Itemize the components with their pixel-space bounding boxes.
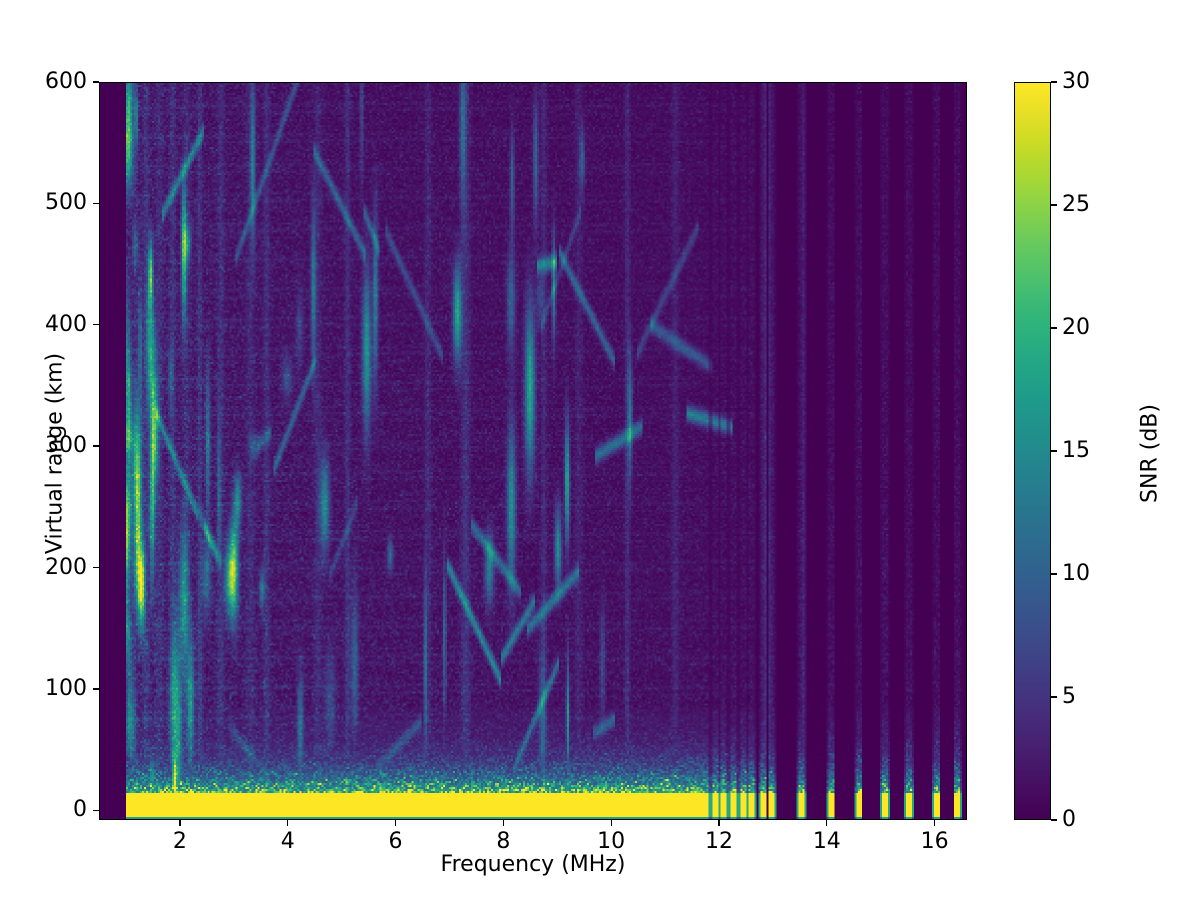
colorbar-tick-mark (1051, 204, 1057, 205)
y-axis-label: Virtual range (km) (43, 304, 68, 604)
y-tick-label: 0 (0, 799, 87, 821)
x-tick-label: 8 (463, 831, 543, 853)
y-tick-mark (93, 445, 99, 446)
x-tick-mark (934, 820, 935, 826)
y-tick-label: 100 (0, 678, 87, 700)
y-tick-mark (93, 203, 99, 204)
colorbar-tick-label: 5 (1062, 686, 1132, 708)
x-tick-label: 12 (679, 831, 759, 853)
colorbar (1014, 82, 1051, 820)
colorbar-tick-mark (1051, 81, 1057, 82)
ionogram-plot-area (99, 82, 967, 820)
colorbar-tick-label: 25 (1062, 194, 1132, 216)
colorbar-gradient (1015, 83, 1050, 819)
x-tick-mark (179, 820, 180, 826)
x-axis-label: Frequency (MHz) (99, 852, 967, 877)
x-tick-label: 16 (895, 831, 975, 853)
y-tick-label: 600 (0, 71, 87, 93)
x-tick-label: 6 (356, 831, 436, 853)
x-tick-label: 10 (571, 831, 651, 853)
x-tick-mark (611, 820, 612, 826)
colorbar-tick-label: 20 (1062, 317, 1132, 339)
y-tick-mark (93, 688, 99, 689)
y-tick-mark (93, 81, 99, 82)
x-tick-label: 4 (248, 831, 328, 853)
x-tick-mark (826, 820, 827, 826)
colorbar-tick-mark (1051, 450, 1057, 451)
x-tick-mark (503, 820, 504, 826)
ionogram-figure: IRF Uppsala SDR Ionosonde UP158 2025-11-… (0, 0, 1200, 900)
colorbar-tick-mark (1051, 819, 1057, 820)
colorbar-tick-label: 30 (1062, 71, 1132, 93)
x-tick-label: 14 (787, 831, 867, 853)
colorbar-tick-mark (1051, 573, 1057, 574)
ionogram-heatmap (100, 83, 966, 819)
colorbar-tick-label: 0 (1062, 809, 1132, 831)
y-tick-label: 500 (0, 192, 87, 214)
x-tick-mark (718, 820, 719, 826)
colorbar-label: SNR (dB) (1138, 304, 1163, 604)
colorbar-tick-mark (1051, 696, 1057, 697)
y-tick-mark (93, 810, 99, 811)
x-tick-label: 2 (140, 831, 220, 853)
colorbar-tick-label: 10 (1062, 563, 1132, 585)
y-tick-mark (93, 567, 99, 568)
colorbar-tick-mark (1051, 327, 1057, 328)
y-tick-mark (93, 324, 99, 325)
x-tick-mark (395, 820, 396, 826)
colorbar-tick-label: 15 (1062, 440, 1132, 462)
x-tick-mark (287, 820, 288, 826)
